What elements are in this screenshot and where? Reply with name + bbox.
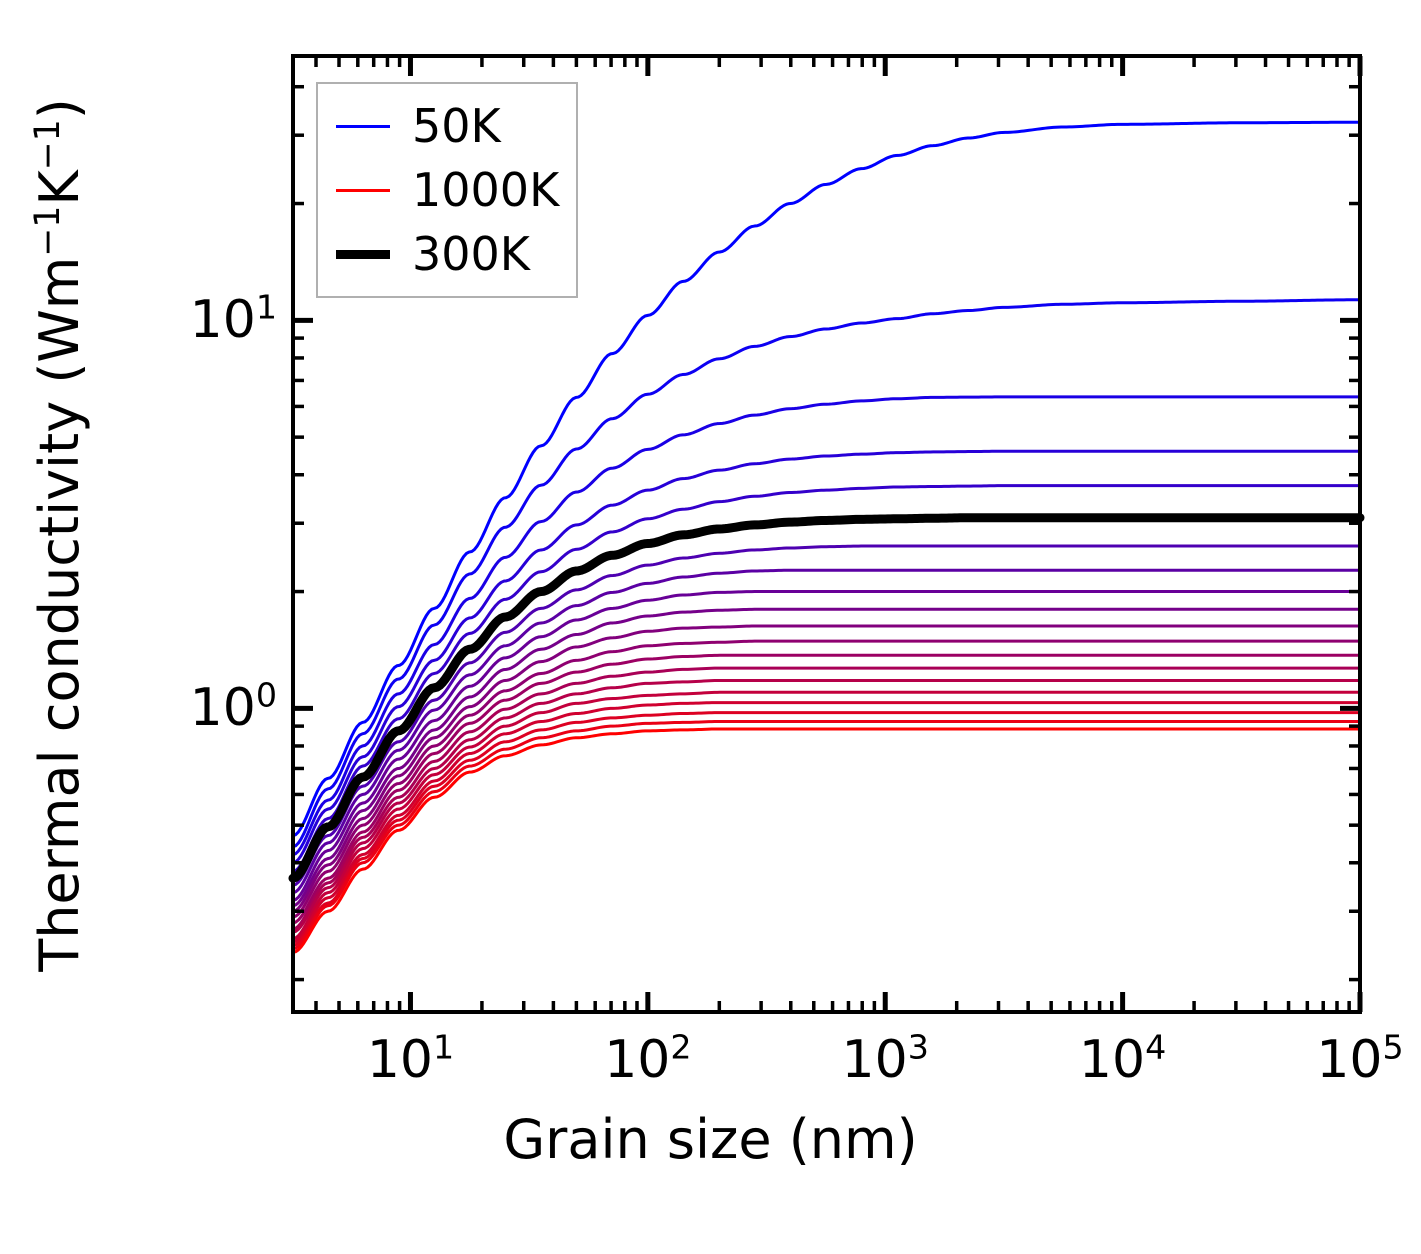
x-tick-mantissa-4: 10 xyxy=(1316,1030,1382,1090)
x-tick-exponent-4: 5 xyxy=(1383,1028,1404,1067)
x-tick-exponent-1: 2 xyxy=(670,1028,691,1067)
legend-label-300k: 300K xyxy=(412,231,530,277)
x-tick-mantissa-2: 10 xyxy=(842,1030,908,1090)
x-axis-label: Grain size (nm) xyxy=(0,1113,1421,1167)
y-tick-mantissa-1: 10 xyxy=(190,678,256,738)
x-tick-label-2: 103 xyxy=(842,1034,929,1086)
figure-container: 101102103104105 101100 Grain size (nm) T… xyxy=(0,0,1421,1254)
x-tick-exponent-3: 4 xyxy=(1145,1028,1166,1067)
curve-750k xyxy=(293,680,1360,932)
x-tick-mantissa-0: 10 xyxy=(367,1030,433,1090)
y-axis-label-main: Thermal conductivity (Wm xyxy=(28,257,91,972)
curve-650k xyxy=(293,655,1360,923)
x-tick-mantissa-1: 10 xyxy=(604,1030,670,1090)
chart-canvas xyxy=(0,0,1421,1254)
y-tick-exponent-1: 0 xyxy=(256,676,277,715)
y-axis-label-exponent-1: −1 xyxy=(28,206,68,257)
y-tick-label-0: 101 xyxy=(190,294,277,346)
curve-1000k xyxy=(293,729,1360,952)
curve-700k xyxy=(293,668,1360,929)
legend: 50K1000K300K xyxy=(316,82,578,298)
y-axis-label-exponent-2: −1 xyxy=(28,119,68,170)
legend-line-swatch-1000k xyxy=(336,189,390,192)
x-tick-label-4: 105 xyxy=(1316,1034,1403,1086)
curve-300k xyxy=(293,518,1360,879)
y-tick-label-1: 100 xyxy=(190,682,277,734)
legend-label-1000k: 1000K xyxy=(412,167,559,213)
legend-line-swatch-300k xyxy=(336,250,390,259)
x-tick-mantissa-3: 10 xyxy=(1079,1030,1145,1090)
x-tick-exponent-0: 1 xyxy=(433,1028,454,1067)
legend-entry-50k[interactable]: 50K xyxy=(318,96,576,156)
legend-entry-1000k[interactable]: 1000K xyxy=(318,160,576,220)
curve-200k xyxy=(293,451,1360,863)
x-tick-label-0: 101 xyxy=(367,1034,454,1086)
legend-line-swatch-50k xyxy=(336,125,390,128)
y-tick-mantissa-0: 10 xyxy=(190,290,256,350)
y-axis-label-wrapper: Thermal conductivity (Wm−1K−1) xyxy=(0,0,120,1070)
y-tick-exponent-0: 1 xyxy=(256,288,277,327)
x-tick-exponent-2: 3 xyxy=(908,1028,929,1067)
y-axis-label-mid: K xyxy=(28,170,91,205)
y-axis-label-end: ) xyxy=(28,98,91,119)
x-tick-label-1: 102 xyxy=(604,1034,691,1086)
x-tick-label-3: 104 xyxy=(1079,1034,1166,1086)
legend-entry-300k[interactable]: 300K xyxy=(318,224,576,284)
y-axis-label: Thermal conductivity (Wm−1K−1) xyxy=(33,98,87,972)
legend-label-50k: 50K xyxy=(412,103,501,149)
curve-950k xyxy=(293,722,1360,949)
